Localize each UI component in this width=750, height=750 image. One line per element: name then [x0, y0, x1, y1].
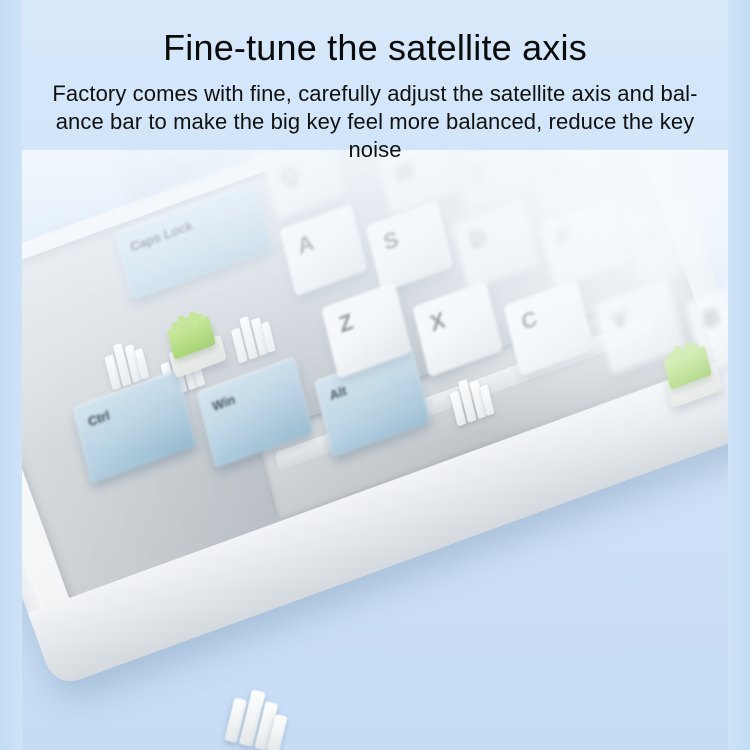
- description-text: Factory comes with fine, carefully adjus…: [22, 80, 728, 164]
- keyboard-assembly: TabCaps LockCtrlWinAltQQQWERTASDFGZXCVB: [22, 150, 728, 750]
- description-line: ance bar to make the big key feel more b…: [22, 108, 728, 136]
- page-title: Fine-tune the satellite axis: [22, 26, 728, 70]
- description-line: noise: [22, 136, 728, 164]
- product-photo: TabCaps LockCtrlWinAltQQQWERTASDFGZXCVB: [22, 150, 728, 750]
- text-overlay: Fine-tune the satellite axis Factory com…: [22, 0, 728, 164]
- description-line: Factory comes with fine, carefully adjus…: [22, 80, 728, 108]
- right-edge-strip: [728, 0, 750, 750]
- product-marketing-image: TabCaps LockCtrlWinAltQQQWERTASDFGZXCVB …: [0, 0, 750, 750]
- left-edge-strip: [0, 0, 22, 750]
